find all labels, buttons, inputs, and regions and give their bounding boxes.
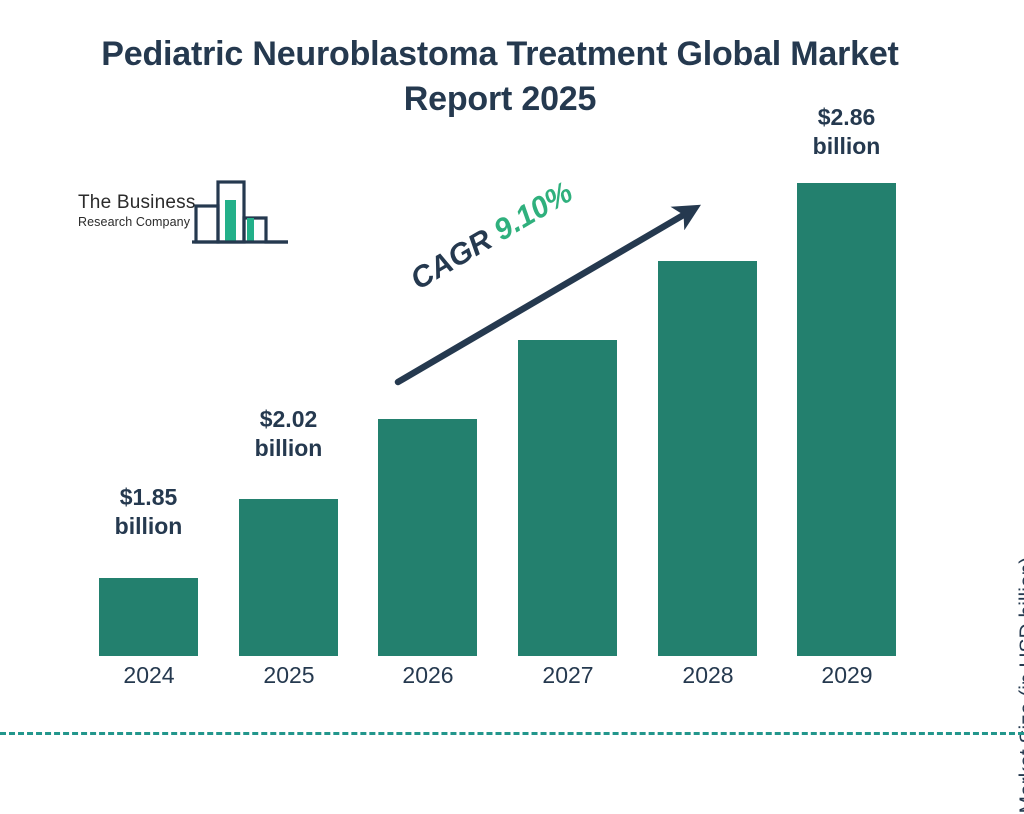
x-tick-label-2024: 2024 [89,662,209,689]
bar-2025[interactable] [239,499,338,656]
bar-value-label-2025: $2.02 billion [219,405,358,463]
x-tick-label-2028: 2028 [648,662,768,689]
bar-2029[interactable] [797,183,896,656]
x-tick-label-2025: 2025 [229,662,349,689]
bar-value-label-2029: $2.86 billion [777,103,916,161]
bar-2027[interactable] [518,340,617,656]
bar-chart-plot-area: $1.85 billion $2.02 billion $2.86 billio… [0,0,1024,768]
y-axis-title: Market Size (in USD billion) [1016,557,1024,814]
footer-divider [0,732,1024,735]
cagr-value: 9.10% [488,176,578,248]
cagr-label: CAGR [405,223,498,296]
bar-2028[interactable] [658,261,757,656]
x-tick-label-2026: 2026 [368,662,488,689]
bar-2024[interactable] [99,578,198,656]
x-tick-label-2027: 2027 [508,662,628,689]
cagr-annotation: CAGR 9.10% [405,176,579,298]
x-tick-label-2029: 2029 [787,662,907,689]
bar-2026[interactable] [378,419,477,656]
bar-value-label-2024: $1.85 billion [79,483,218,541]
